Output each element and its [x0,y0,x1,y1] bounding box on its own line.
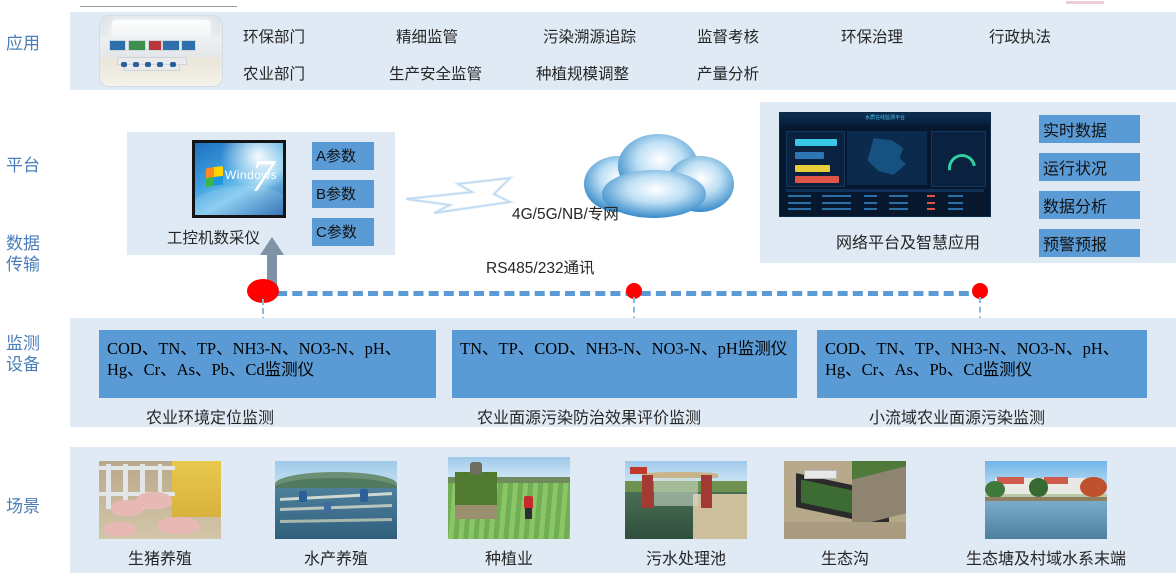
top-right-accent-rule [1066,1,1104,4]
rail-label-data-transmission: 数据 传输 [6,233,40,275]
dashboard-title: 水质在线监测平台 [865,114,905,121]
scene-image-eco-ditch [784,461,906,539]
rail-label-platform: 平台 [6,155,40,176]
network-type-label: 4G/5G/NB/专网 [512,202,619,224]
monitoring-caption-2: 农业面源污染防治效果评价监测 [477,404,701,428]
platform-caption: 网络平台及智慧应用 [836,229,980,253]
monitoring-box-1[interactable]: COD、TN、TP、NH3-N、NO3-N、pH、Hg、Cr、As、Pb、Cd监… [99,330,436,398]
monitoring-box-2[interactable]: TN、TP、COD、NH3-N、NO3-N、pH监测仪 [452,330,797,398]
scene-caption-sewage-pond: 污水处理池 [625,545,747,569]
platform-button-realtime-data[interactable]: 实时数据 [1039,115,1140,143]
parameter-box-a[interactable]: A参数 [312,142,374,170]
scene-image-eco-pond [985,461,1107,539]
app-item-env-governance[interactable]: 环保治理 [841,25,903,47]
windows-version-label: 7 [251,149,274,202]
app-item-yield-analysis[interactable]: 产量分析 [697,62,759,84]
scene-caption-aquaculture: 水产养殖 [275,545,397,569]
app-item-supervision-assessment[interactable]: 监督考核 [697,25,759,47]
collector-caption: 工控机数采仪 [167,226,260,248]
communication-bus-line [262,291,984,296]
scene-image-sewage-pond [625,461,747,539]
scene-image-planting [448,457,570,539]
dashboard-screenshot: 水质在线监测平台 [779,112,991,217]
app-item-fine-supervision[interactable]: 精细监管 [396,25,458,47]
scene-caption-planting: 种植业 [448,545,570,569]
app-item-planting-scale[interactable]: 种植规模调整 [536,62,629,84]
scene-caption-eco-ditch: 生态沟 [784,545,906,569]
scene-caption-eco-pond: 生态塘及村域水系末端 [955,545,1137,569]
monitoring-box-3[interactable]: COD、TN、TP、NH3-N、NO3-N、pH、Hg、Cr、As、Pb、Cd监… [817,330,1147,398]
scene-caption-pig-farming: 生猪养殖 [99,545,221,569]
scene-image-aquaculture [275,461,397,539]
scene-image-pig-farming [99,461,221,539]
parameter-box-c[interactable]: C参数 [312,218,374,246]
platform-button-operation-status[interactable]: 运行状况 [1039,153,1140,181]
app-item-production-safety[interactable]: 生产安全监管 [389,62,482,84]
app-item-admin-enforcement[interactable]: 行政执法 [989,25,1051,47]
control-room-image [100,16,222,86]
top-divider-rule [80,6,237,7]
rail-label-application: 应用 [6,33,40,54]
wireless-link-arrow-icon [398,172,516,220]
windows7-screen-image: Windows 7 [192,140,286,218]
windows-logo-icon [206,166,223,187]
app-item-agri-dept[interactable]: 农业部门 [243,62,305,84]
monitoring-caption-3: 小流域农业面源污染监测 [869,404,1045,428]
protocol-label: RS485/232通讯 [486,256,595,278]
platform-button-data-analysis[interactable]: 数据分析 [1039,191,1140,219]
platform-button-early-warning[interactable]: 预警预报 [1039,229,1140,257]
rail-label-monitoring-equipment: 监测 设备 [6,333,40,375]
app-item-pollution-tracing[interactable]: 污染溯源追踪 [543,25,636,47]
parameter-box-b[interactable]: B参数 [312,180,374,208]
monitoring-caption-1: 农业环境定位监测 [146,404,274,428]
app-item-env-dept[interactable]: 环保部门 [243,25,305,47]
rail-label-scene: 场景 [6,496,40,517]
architecture-diagram: 应用 平台 数据 传输 监测 设备 场景 环保部门 农业部门 精细监管 生产安全… [0,0,1176,583]
